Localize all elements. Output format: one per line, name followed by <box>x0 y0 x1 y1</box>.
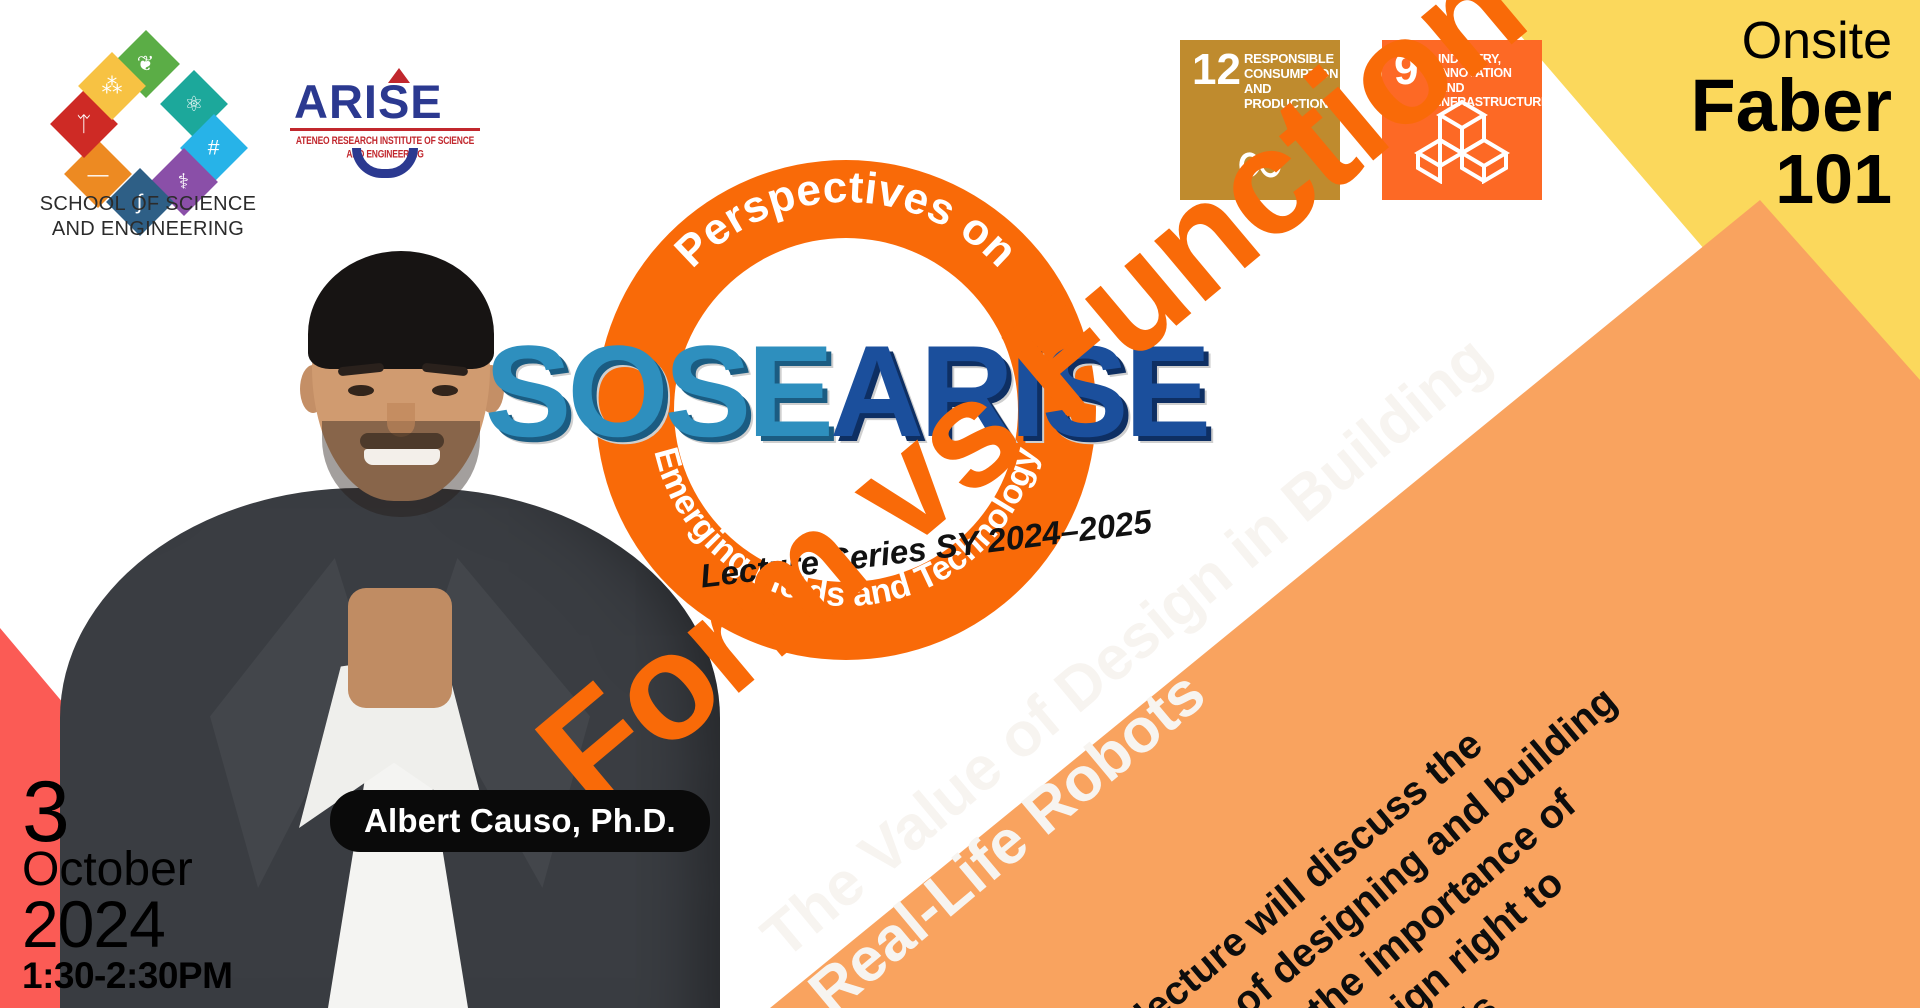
venue-room-number: 101 <box>1690 143 1892 217</box>
schedule-day: 3 <box>22 777 232 848</box>
schedule-year: 2024 <box>22 893 232 956</box>
schedule-block: 3 October 2024 1:30-2:30PM <box>22 777 232 998</box>
venue-block: Onsite Faber 101 <box>1690 14 1892 216</box>
schedule-time: 1:30-2:30PM <box>22 955 232 998</box>
venue-mode: Onsite <box>1690 14 1892 69</box>
speaker-name-badge: Albert Causo, Ph.D. <box>330 790 710 852</box>
venue-room-name: Faber <box>1690 69 1892 143</box>
event-poster: ❦ ⚛ # ⚕ ∫ — ᛠ ⁂ SCHOOL OF SCIENCE AND EN… <box>0 0 1920 1008</box>
schedule-month: October <box>22 847 232 893</box>
diagonal-text-group: Form vs Function The Value of Design in … <box>0 0 1920 1008</box>
